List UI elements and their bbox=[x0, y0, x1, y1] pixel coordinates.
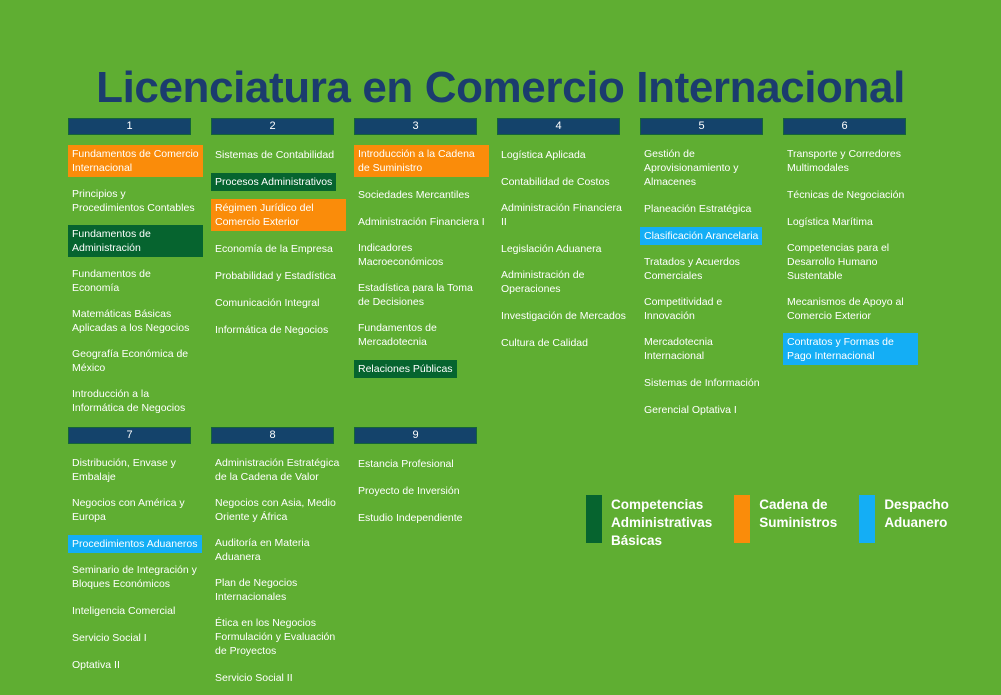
course-item[interactable]: Planeación Estratégica bbox=[640, 200, 755, 218]
course-item[interactable]: Introducción a la Cadena de Suministro bbox=[354, 145, 489, 177]
course-item[interactable]: Cultura de Calidad bbox=[497, 334, 592, 352]
course-item[interactable]: Fundamentos de Mercadotecnia bbox=[354, 319, 489, 351]
semester-number-1: 1 bbox=[68, 118, 191, 135]
course-item[interactable]: Administración Financiera I bbox=[354, 213, 489, 231]
course-item[interactable]: Introducción a la Informática de Negocio… bbox=[68, 385, 203, 417]
legend: Competencias Administrativas BásicasCade… bbox=[586, 495, 971, 550]
semester-number-3: 3 bbox=[354, 118, 477, 135]
course-item[interactable]: Régimen Jurídico del Comercio Exterior bbox=[211, 199, 346, 231]
course-item[interactable]: Informática de Negocios bbox=[211, 321, 332, 339]
semester-column-3: 3Introducción a la Cadena de SuministroS… bbox=[354, 118, 497, 386]
legend-swatch-despacho bbox=[859, 495, 875, 543]
legend-swatch-admin bbox=[586, 495, 602, 543]
semester-column-8: 8Administración Estratégica de la Cadena… bbox=[211, 427, 354, 695]
semester-number-7: 7 bbox=[68, 427, 191, 444]
course-item[interactable]: Procedimientos Aduaneros bbox=[68, 535, 202, 553]
semester-column-1: 1Fundamentos de Comercio InternacionalPr… bbox=[68, 118, 211, 425]
course-item[interactable]: Sistemas de Información bbox=[640, 374, 764, 392]
course-item[interactable]: Inteligencia Comercial bbox=[68, 602, 179, 620]
course-item[interactable]: Fundamentos de Comercio Internacional bbox=[68, 145, 203, 177]
course-item[interactable]: Gerencial Optativa I bbox=[640, 401, 741, 419]
semester-number-6: 6 bbox=[783, 118, 906, 135]
course-item[interactable]: Proyecto de Inversión bbox=[354, 482, 464, 500]
course-item[interactable]: Tratados y Acuerdos Comerciales bbox=[640, 253, 775, 285]
course-item[interactable]: Fundamentos de Economía bbox=[68, 265, 203, 297]
semester-column-5: 5Gestión de Aprovisionamiento y Almacene… bbox=[640, 118, 783, 427]
legend-item-cadena: Cadena de Suministros bbox=[734, 495, 837, 543]
course-item[interactable]: Fundamentos de Administración bbox=[68, 225, 203, 257]
legend-label-cadena: Cadena de Suministros bbox=[759, 495, 837, 532]
course-item[interactable]: Logística Aplicada bbox=[497, 146, 590, 164]
legend-label-admin: Competencias Administrativas Básicas bbox=[611, 495, 712, 550]
course-item[interactable]: Sociedades Mercantiles bbox=[354, 186, 473, 204]
curriculum-grid: 1Fundamentos de Comercio InternacionalPr… bbox=[68, 118, 988, 695]
course-item[interactable]: Competencias para el Desarrollo Humano S… bbox=[783, 239, 918, 285]
legend-swatch-cadena bbox=[734, 495, 750, 543]
course-item[interactable]: Logística Marítima bbox=[783, 213, 877, 231]
course-item[interactable]: Estancia Profesional bbox=[354, 455, 458, 473]
semester-number-9: 9 bbox=[354, 427, 477, 444]
course-item[interactable]: Estudio Independiente bbox=[354, 509, 467, 527]
legend-item-admin: Competencias Administrativas Básicas bbox=[586, 495, 712, 550]
course-item[interactable]: Negocios con Asia, Medio Oriente y Áfric… bbox=[211, 494, 346, 526]
course-item[interactable]: Comunicación Integral bbox=[211, 294, 323, 312]
semester-number-2: 2 bbox=[211, 118, 334, 135]
semester-column-4: 4Logística AplicadaContabilidad de Costo… bbox=[497, 118, 640, 360]
course-item[interactable]: Transporte y Corredores Multimodales bbox=[783, 145, 918, 177]
course-item[interactable]: Procesos Administrativos bbox=[211, 173, 336, 191]
semester-column-2: 2Sistemas de ContabilidadProcesos Admini… bbox=[211, 118, 354, 347]
semester-number-5: 5 bbox=[640, 118, 763, 135]
semester-column-7: 7Distribución, Envase y EmbalajeNegocios… bbox=[68, 427, 211, 682]
course-item[interactable]: Técnicas de Negociación bbox=[783, 186, 908, 204]
course-item[interactable]: Relaciones Públicas bbox=[354, 360, 457, 378]
course-item[interactable]: Economía de la Empresa bbox=[211, 240, 337, 258]
course-item[interactable]: Plan de Negocios Internacionales bbox=[211, 574, 346, 606]
course-item[interactable]: Administración de Operaciones bbox=[497, 266, 632, 298]
curriculum-poster: { "title": "Licenciatura en Comercio Int… bbox=[0, 0, 1001, 667]
course-item[interactable]: Mercadotecnia Internacional bbox=[640, 333, 775, 365]
course-item[interactable]: Auditoría en Materia Aduanera bbox=[211, 534, 346, 566]
course-item[interactable]: Servicio Social II bbox=[211, 669, 297, 687]
course-item[interactable]: Contabilidad de Costos bbox=[497, 173, 614, 191]
course-item[interactable]: Investigación de Mercados bbox=[497, 307, 630, 325]
course-item[interactable]: Indicadores Macroeconómicos bbox=[354, 239, 489, 271]
course-item[interactable]: Negocios con América y Europa bbox=[68, 494, 203, 526]
course-item[interactable]: Ética en los Negocios Formulación y Eval… bbox=[211, 614, 346, 660]
course-item[interactable]: Mecanismos de Apoyo al Comercio Exterior bbox=[783, 293, 918, 325]
course-item[interactable]: Competitividad e Innovación bbox=[640, 293, 775, 325]
course-item[interactable]: Distribución, Envase y Embalaje bbox=[68, 454, 203, 486]
legend-item-despacho: Despacho Aduanero bbox=[859, 495, 949, 543]
course-item[interactable]: Optativa II bbox=[68, 656, 124, 674]
semester-row-bottom: 7Distribución, Envase y EmbalajeNegocios… bbox=[68, 427, 988, 695]
course-item[interactable]: Clasificación Arancelaria bbox=[640, 227, 762, 245]
course-item[interactable]: Estadística para la Toma de Decisiones bbox=[354, 279, 489, 311]
semester-column-6: 6Transporte y Corredores MultimodalesTéc… bbox=[783, 118, 926, 373]
course-item[interactable]: Sistemas de Contabilidad bbox=[211, 146, 338, 164]
course-item[interactable]: Principios y Procedimientos Contables bbox=[68, 185, 203, 217]
semester-column-9: 9Estancia ProfesionalProyecto de Inversi… bbox=[354, 427, 497, 535]
course-item[interactable]: Legislación Aduanera bbox=[497, 240, 605, 258]
course-item[interactable]: Contratos y Formas de Pago Internacional bbox=[783, 333, 918, 365]
semester-row-top: 1Fundamentos de Comercio InternacionalPr… bbox=[68, 118, 988, 427]
course-item[interactable]: Probabilidad y Estadística bbox=[211, 267, 340, 285]
course-item[interactable]: Seminario de Integración y Bloques Econó… bbox=[68, 561, 203, 593]
course-item[interactable]: Matemáticas Básicas Aplicadas a los Nego… bbox=[68, 305, 203, 337]
course-item[interactable]: Gestión de Aprovisionamiento y Almacenes bbox=[640, 145, 775, 191]
course-item[interactable]: Geografía Económica de México bbox=[68, 345, 203, 377]
legend-label-despacho: Despacho Aduanero bbox=[884, 495, 949, 532]
semester-number-4: 4 bbox=[497, 118, 620, 135]
course-item[interactable]: Administración Financiera II bbox=[497, 199, 632, 231]
page-title: Licenciatura en Comercio Internacional bbox=[0, 63, 1001, 113]
course-item[interactable]: Servicio Social I bbox=[68, 629, 151, 647]
semester-number-8: 8 bbox=[211, 427, 334, 444]
course-item[interactable]: Administración Estratégica de la Cadena … bbox=[211, 454, 346, 486]
